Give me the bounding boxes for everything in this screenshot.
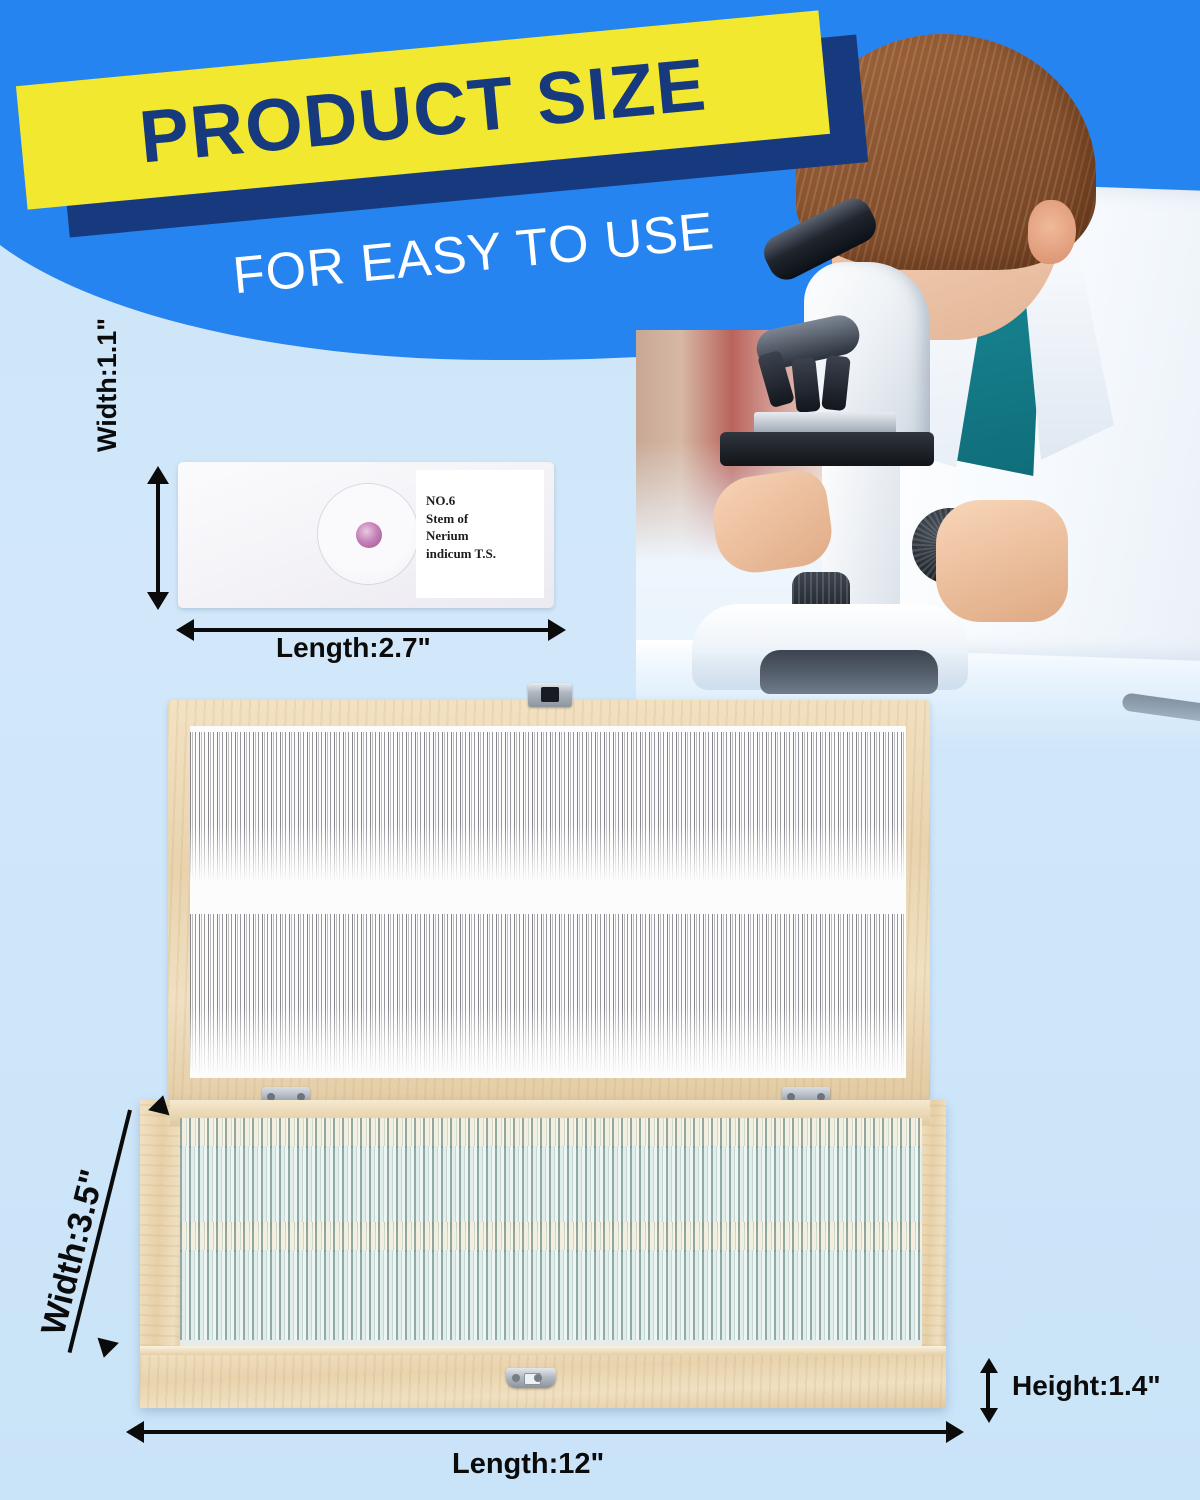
slides-tier-2-bodies <box>180 1250 922 1340</box>
microscope-slide-holder <box>754 412 896 434</box>
slide-length-label: Length:2.7" <box>276 632 431 664</box>
box-height-arrowhead-bottom <box>980 1408 998 1423</box>
slide-label-line-2: Stem of <box>426 510 544 528</box>
slide-index-list <box>190 726 906 1078</box>
box-width-label: Width:3.5" <box>34 1166 113 1339</box>
box-length-arrow-line <box>142 1430 948 1434</box>
box-height-label: Height:1.4" <box>1012 1370 1161 1402</box>
box-latch-bottom[interactable] <box>506 1368 556 1388</box>
slides-tier-1-bodies <box>180 1146 922 1222</box>
product-size-infographic: PRODUCT SIZE FOR EASY TO USE NO.6 Stem o… <box>0 0 1200 1500</box>
slide-width-label: Width:1.1" <box>92 318 123 452</box>
boy-right-hand <box>936 500 1068 622</box>
slide-length-arrowhead-right <box>548 619 566 641</box>
box-length-label: Length:12" <box>452 1448 604 1481</box>
slide-specimen <box>356 522 382 548</box>
slides-tier-1-edges <box>180 1118 922 1148</box>
prepared-slide: NO.6 Stem of Nerium indicum T.S. <box>178 462 554 608</box>
slide-index-band-upper <box>190 732 906 882</box>
slide-width-arrow-line <box>156 480 160 592</box>
base-front-top-edge <box>140 1346 946 1355</box>
slide-label-line-4: indicum T.S. <box>426 545 544 563</box>
slide-label-line-3: Nerium <box>426 527 544 545</box>
slide-box-lid <box>168 700 930 1100</box>
box-length-arrowhead-right <box>946 1421 964 1443</box>
base-left-wall <box>140 1100 184 1356</box>
box-width-arrowhead-bottom <box>93 1338 119 1361</box>
base-right-wall <box>918 1100 946 1356</box>
microscope-base-foot <box>760 650 938 694</box>
glass-slides-tray <box>180 1118 922 1346</box>
box-latch-top[interactable] <box>528 683 572 707</box>
slide-index-band-lower <box>190 914 906 1074</box>
microscope-stage <box>720 432 934 466</box>
slide-box-base <box>140 1100 946 1408</box>
slides-tier-2-edges <box>180 1222 922 1252</box>
box-height-arrow-line <box>986 1370 990 1410</box>
lid-slide-index-sheet <box>190 726 906 1078</box>
slide-width-arrowhead-bottom <box>147 592 169 610</box>
slide-paper-label: NO.6 Stem of Nerium indicum T.S. <box>416 470 544 598</box>
slide-label-line-1: NO.6 <box>426 492 544 510</box>
